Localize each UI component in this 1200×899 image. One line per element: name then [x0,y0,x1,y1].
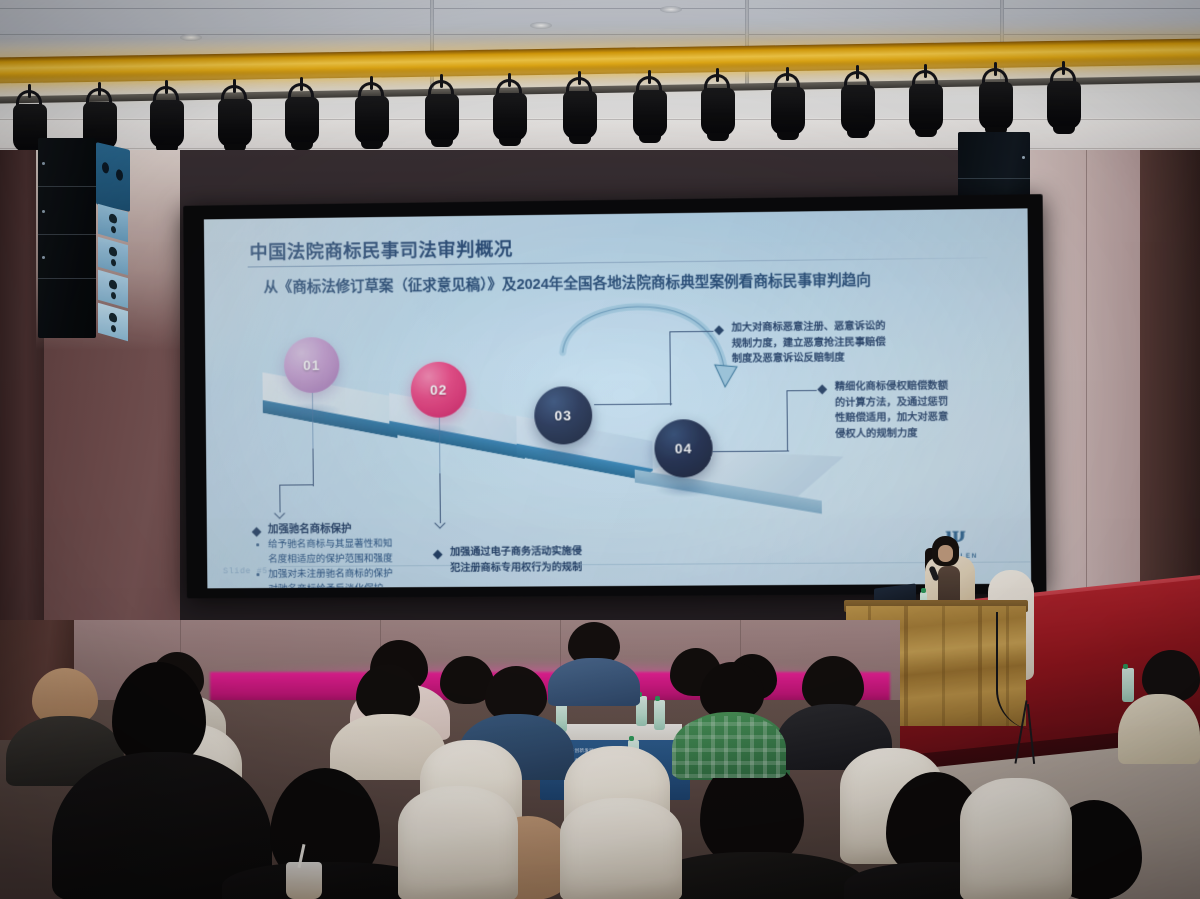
power-cable [996,612,1036,730]
stage-light [909,84,943,132]
projection-screen[interactable]: 中国法院商标民事司法审判概况 从《商标法修订草案（征求意见稿）》及2024年全国… [204,208,1031,588]
audience-plaid-shirt [672,716,786,778]
line-array-speaker-left-cabs [98,208,128,338]
recessed-light [660,6,682,13]
chair [398,786,518,899]
step-marker-3-label: 03 [554,407,572,423]
recessed-light [180,34,202,41]
step-marker-4[interactable]: 04 [654,419,713,478]
stage-light [979,82,1013,130]
callout-04-line-2: 的计算方法，及通过惩罚 [835,394,948,411]
presenter-face [938,545,953,562]
slide-footer-label: Slide #5 [223,566,268,576]
steps-diagram: 01 02 03 04 [204,208,1028,219]
callout-04-line-4: 侵权人的规制力度 [835,426,917,442]
stage-light [493,93,527,141]
step-marker-4-label: 04 [675,440,693,456]
callout-03-line-1: 加大对商标恶意注册、恶意诉讼的 [731,319,885,336]
stage-light [701,88,735,136]
callout-01-heading: 加强驰名商标保护 [268,522,352,538]
stage-light [1047,81,1081,129]
callout-01-bullet-3: 加强对未注册驰名商标的保护 [268,566,393,582]
callout-02-line-2: 犯注册商标专用权行为的规制 [450,560,582,576]
stage-light [841,85,875,133]
callout-03: 加大对商标恶意注册、恶意诉讼的 规制力度，建立恶意抢注民事赔偿 制度及恶意诉讼反… [204,208,1028,219]
callout-03-line-2: 规制力度，建立恶意抢注民事赔偿 [732,335,886,352]
step-marker-2-label: 02 [430,382,448,398]
stage-light [218,99,252,147]
audience-shoulders [1118,694,1200,764]
callout-03-line-3: 制度及恶意诉讼反赔制度 [732,351,845,368]
chair [960,778,1072,899]
callout-04: 精细化商标侵权赔偿数额 的计算方法，及通过惩罚 性赔偿适用，加大对恶意 侵权人的… [204,208,1028,219]
callout-04-line-1: 精细化商标侵权赔偿数额 [835,379,948,396]
bullet-diamond-icon [252,527,262,537]
callout-02-line-1: 加强通过电子商务活动实施侵 [450,544,582,560]
stage-light [633,90,667,138]
stage-light [425,94,459,142]
line-array-speaker-left-faces [96,142,130,212]
bullet-diamond-icon [433,550,443,560]
callout-01-bullet-1: 给予驰名商标与其显著性和知 [268,536,393,552]
conference-hall-photo: 中国法院商标民事司法审判概况 从《商标法修订草案（征求意见稿）》及2024年全国… [0,0,1200,899]
projection-screen-frame: 中国法院商标民事司法审判概况 从《商标法修订草案（征求意见稿）》及2024年全国… [183,194,1046,598]
stage-light [150,100,184,148]
callout-04-line-3: 性赔偿适用，加大对恶意 [835,410,948,427]
slide-title: 中国法院商标民事司法审判概况 [249,235,513,264]
bullet-diamond-icon [817,384,827,394]
line-array-speaker-left [38,138,96,338]
callout-02: 加强通过电子商务活动实施侵 犯注册商标专用权行为的规制 [204,208,1028,219]
recessed-light [530,22,552,29]
drink-cup [286,862,322,899]
audience-shoulders [548,658,640,706]
slide-subtitle: 从《商标法修订草案（征求意见稿）》及2024年全国各地法院商标典型案例看商标民事… [264,269,872,297]
callout-01: 加强驰名商标保护 给予驰名商标与其显著性和知 名度相适应的保护范围和强度 加强对… [204,208,1028,219]
stage-light [771,87,805,135]
stage-light [563,91,597,139]
stage-light [285,97,319,145]
stage-light [355,96,389,144]
callout-01-bullet-4: 对驰名商标给予反淡化保护 [268,581,383,588]
step-marker-2[interactable]: 02 [411,362,467,418]
water-bottle [1122,668,1134,702]
step-marker-1-label: 01 [303,357,321,373]
water-bottle [654,700,665,730]
flow-arrow-icon [556,292,747,404]
chair [560,798,682,899]
step-marker-1[interactable]: 01 [284,337,340,393]
